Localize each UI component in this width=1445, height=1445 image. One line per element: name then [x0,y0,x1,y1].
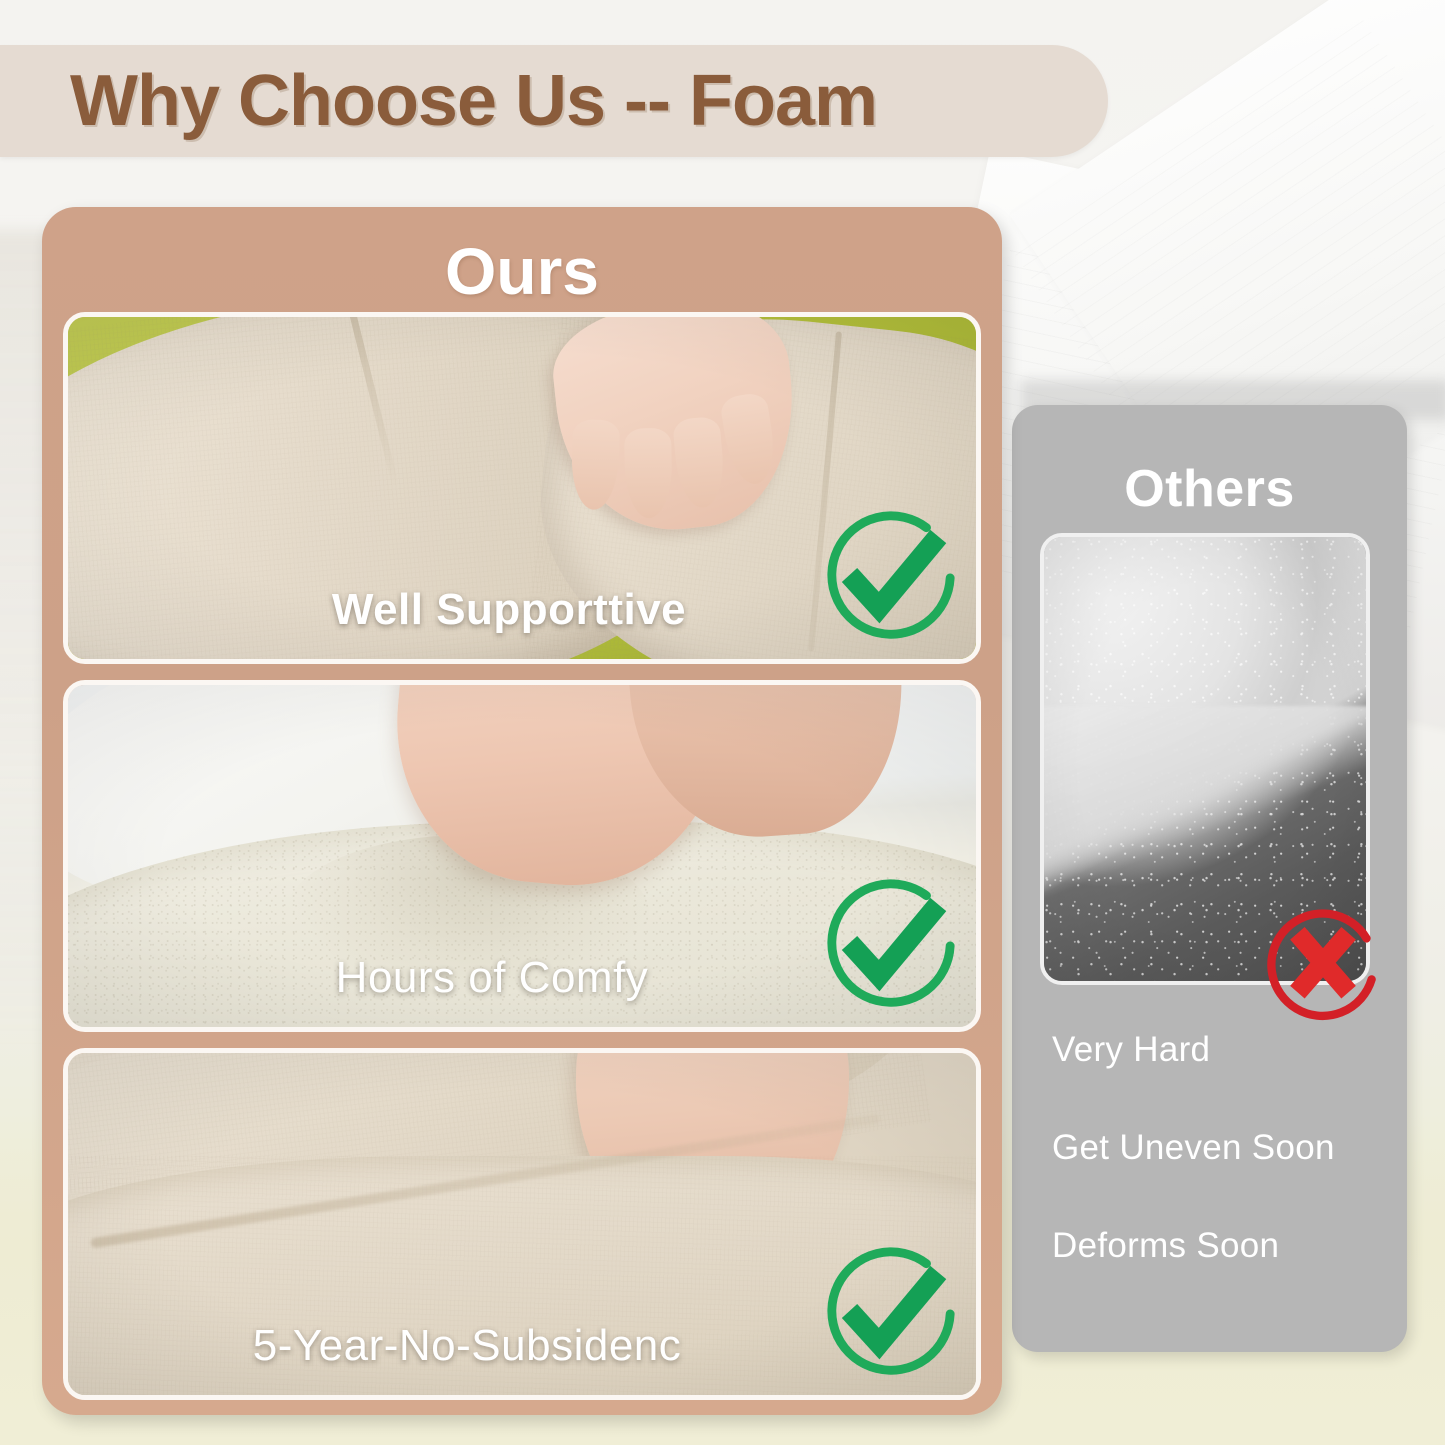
ours-card-hours-of-comfy: Hours of Comfy [63,680,981,1032]
others-item-2: Deforms Soon [1052,1226,1392,1266]
ours-heading: Ours [42,233,1002,309]
ours-panel: Ours Well Supporttive [42,207,1002,1415]
ours-card-well-supportive: Well Supporttive [63,312,981,664]
others-item-1: Get Uneven Soon [1052,1128,1392,1168]
title-banner: Why Choose Us -- Foam [0,45,1108,157]
green-check-icon [814,1237,962,1385]
page-title: Why Choose Us -- Foam [70,60,877,142]
others-item-0: Very Hard [1052,1030,1392,1070]
red-cross-icon [1259,900,1387,1028]
green-check-icon [814,501,962,649]
others-heading: Others [1012,459,1407,519]
others-panel: Others Very Hard Get Uneven Soon Deforms… [1012,405,1407,1352]
green-check-icon [814,869,962,1017]
ours-card-no-subsidence: 5-Year-No-Subsidenc [63,1048,981,1400]
others-drawback-list: Very Hard Get Uneven Soon Deforms Soon [1052,1030,1392,1324]
